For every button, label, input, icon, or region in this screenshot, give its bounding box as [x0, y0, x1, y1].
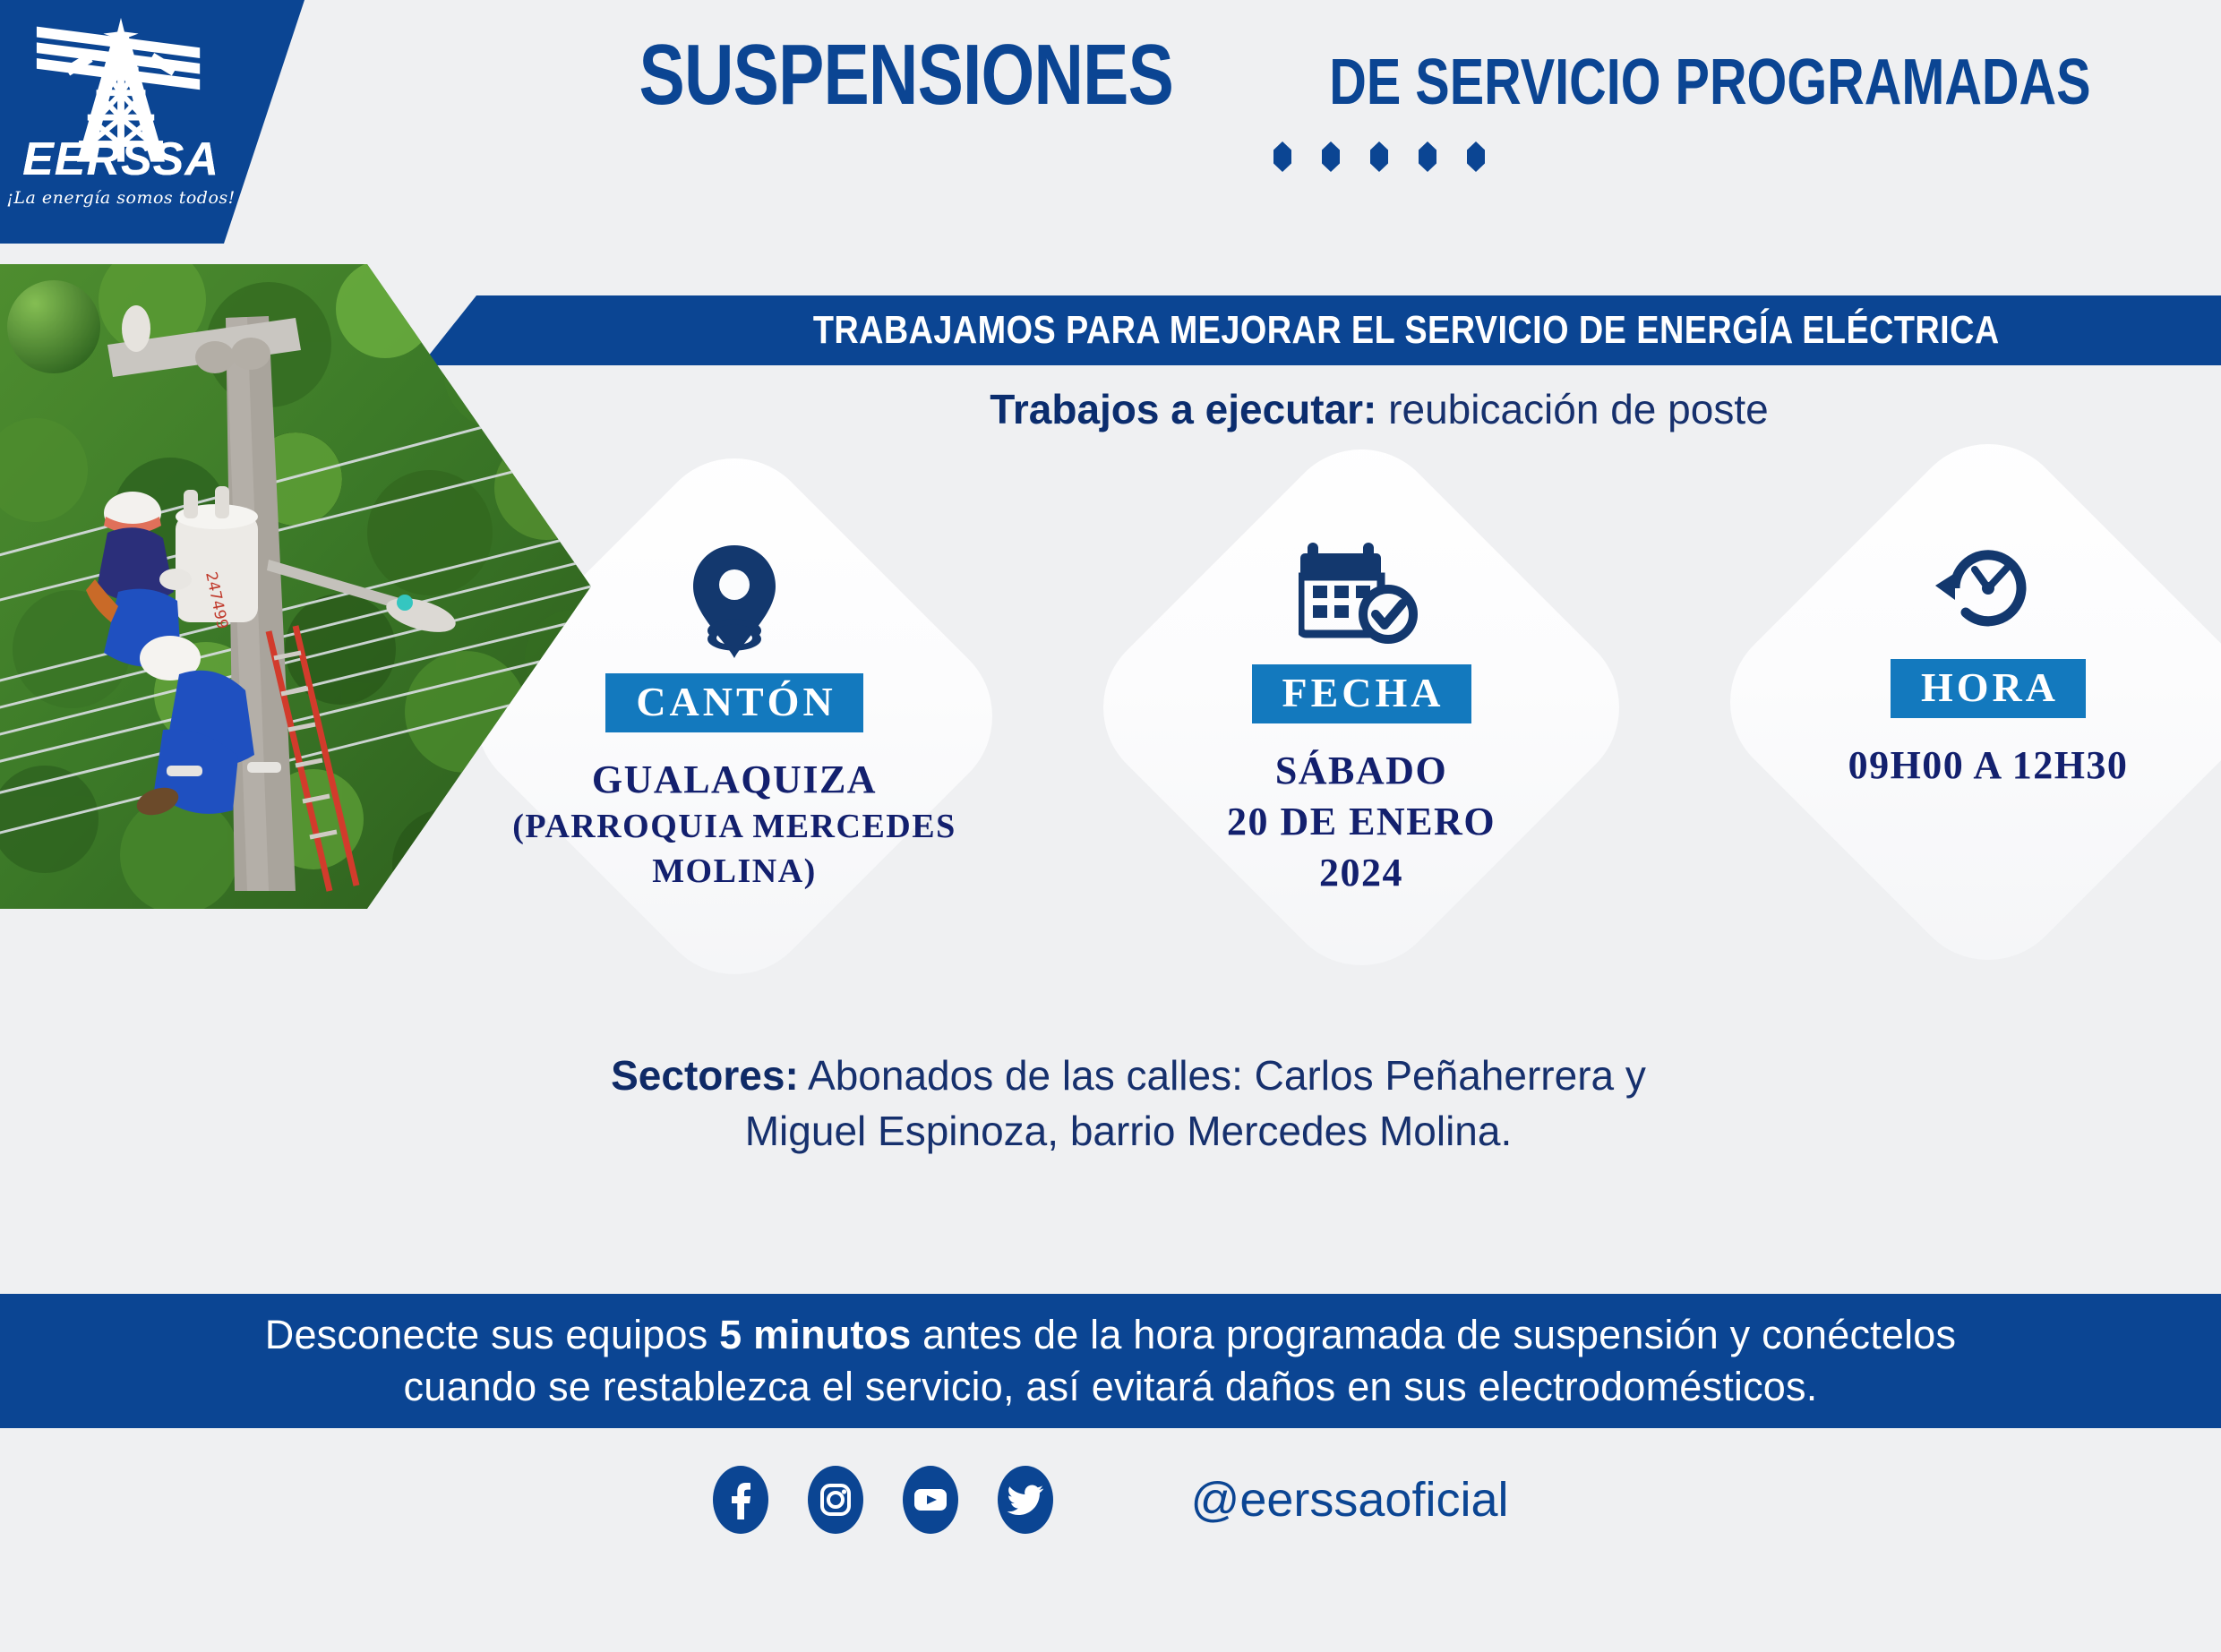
card-value-canton: GUALAQUIZA (PARROQUIA MERCEDES MOLINA)	[512, 754, 956, 894]
hora-line-1: 09H00 A 12H30	[1848, 740, 2129, 791]
card-value-hora: 09H00 A 12H30	[1848, 740, 2129, 791]
sectors-line-1: Abonados de las calles: Carlos Peñaherre…	[808, 1052, 1646, 1099]
canton-line-2: (PARROQUIA MERCEDES	[512, 805, 956, 849]
dot-2	[1322, 141, 1340, 172]
page-title: SUSPENSIONESDE SERVICIO PROGRAMADAS	[555, 32, 2203, 118]
facebook-icon[interactable]	[713, 1466, 768, 1534]
banner-text: TRABAJAMOS PARA MEJORAR EL SERVICIO DE E…	[813, 308, 2000, 353]
logo-wordmark: EERSSA	[22, 136, 219, 183]
dot-1	[1273, 141, 1291, 172]
page-title-main: SUSPENSIONES	[639, 32, 1172, 118]
works-line: Trabajos a ejecutar: reubicación de post…	[555, 385, 2203, 433]
page-title-sub: DE SERVICIO PROGRAMADAS	[1330, 50, 2091, 115]
info-card-fecha: FECHA SÁBADO 20 DE ENERO 2024	[1155, 501, 1567, 913]
dot-4	[1419, 141, 1436, 172]
social-icon-list	[713, 1466, 1053, 1534]
notice-banner: Desconecte sus equipos 5 minutos antes d…	[0, 1294, 2221, 1428]
card-value-fecha: SÁBADO 20 DE ENERO 2024	[1227, 745, 1496, 899]
dot-3	[1370, 141, 1388, 172]
decorative-dots	[555, 141, 2203, 172]
fecha-line-2: 20 DE ENERO	[1227, 796, 1496, 847]
notice-part-1: Desconecte sus equipos	[265, 1312, 719, 1357]
dot-5	[1467, 141, 1485, 172]
card-badge-fecha: FECHA	[1252, 664, 1471, 723]
service-improvement-banner: TRABAJAMOS PARA MEJORAR EL SERVICIO DE E…	[421, 295, 2221, 365]
youtube-icon[interactable]	[903, 1466, 958, 1534]
page-header: SUSPENSIONESDE SERVICIO PROGRAMADAS	[555, 32, 2203, 172]
calendar-check-icon	[1299, 535, 1424, 652]
canton-line-3: MOLINA)	[512, 850, 956, 894]
card-badge-canton: CANTÓN	[605, 673, 862, 732]
fecha-line-1: SÁBADO	[1227, 745, 1496, 796]
sectors-block: Sectores: Abonados de las calles: Carlos…	[502, 1048, 1755, 1159]
card-badge-hora: HORA	[1891, 659, 2086, 718]
fecha-line-3: 2024	[1227, 847, 1496, 898]
social-handle: @eerssaoficial	[1191, 1472, 1509, 1528]
map-pin-icon	[681, 540, 788, 665]
info-cards: CANTÓN GUALAQUIZA (PARROQUIA MERCEDES MO…	[528, 501, 2212, 1057]
social-footer: @eerssaoficial	[0, 1442, 2221, 1558]
info-card-canton: CANTÓN GUALAQUIZA (PARROQUIA MERCEDES MO…	[528, 510, 940, 922]
sectors-line-2: Miguel Espinoza, barrio Mercedes Molina.	[745, 1108, 1513, 1154]
info-card-hora: HORA 09H00 A 12H30	[1782, 496, 2194, 908]
twitter-icon[interactable]	[998, 1466, 1053, 1534]
notice-line-2: cuando se restablezca el servicio, así e…	[404, 1364, 1818, 1409]
works-label: Trabajos a ejecutar:	[990, 386, 1376, 432]
sectors-label: Sectores:	[611, 1052, 799, 1099]
instagram-icon[interactable]	[808, 1466, 863, 1534]
notice-part-2: antes de la hora programada de suspensió…	[911, 1312, 1956, 1357]
notice-text: Desconecte sus equipos 5 minutos antes d…	[265, 1309, 1956, 1414]
eerssa-logo: EERSSA ¡La energía somos todos!	[0, 0, 304, 244]
canton-line-1: GUALAQUIZA	[512, 754, 956, 805]
clock-rotate-icon	[1930, 530, 2046, 646]
logo-tagline: ¡La energía somos todos!	[6, 188, 236, 208]
poster-canvas: 247499	[0, 0, 2221, 1652]
notice-highlight: 5 minutos	[719, 1312, 911, 1357]
works-value: reubicación de poste	[1388, 386, 1769, 432]
